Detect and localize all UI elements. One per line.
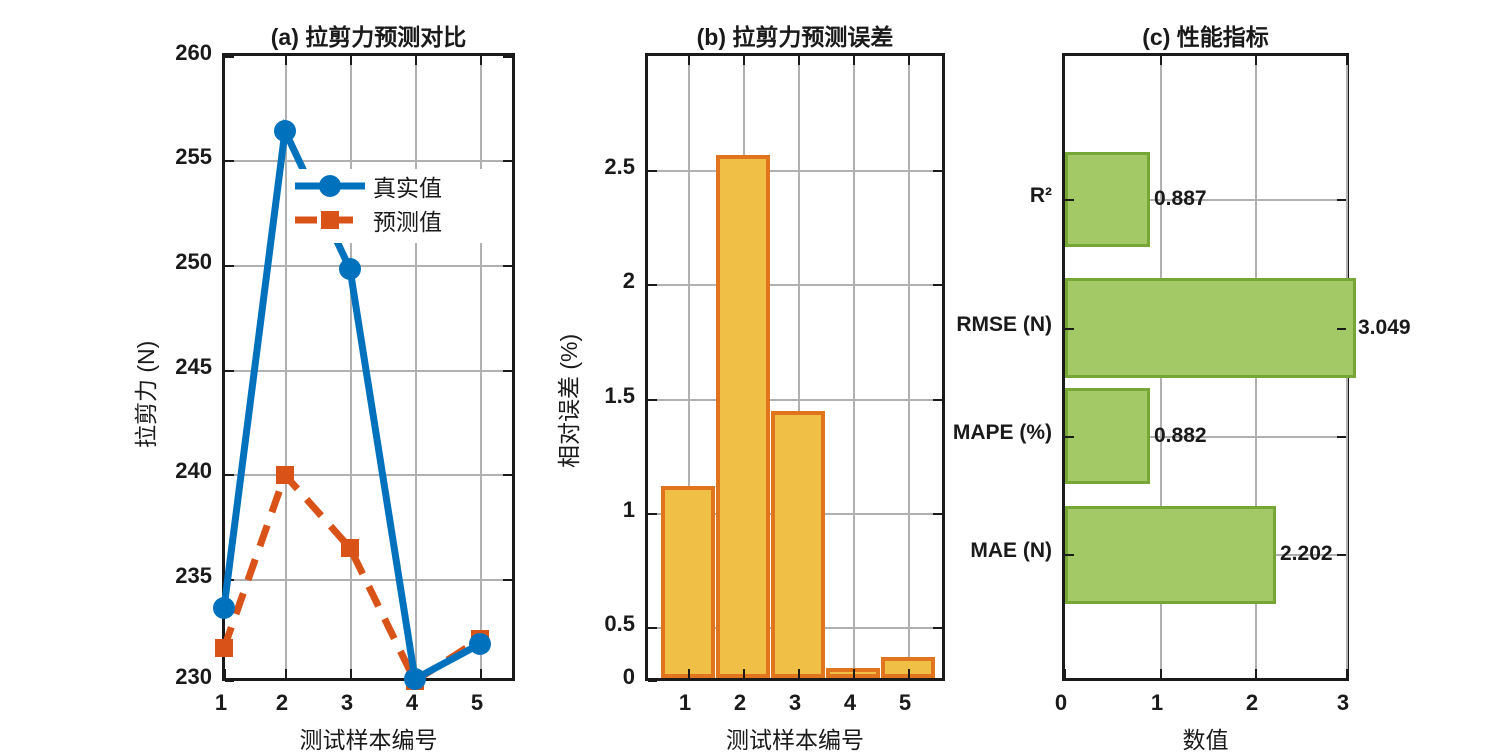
axis-tick [648,680,657,682]
panel-c: (c) 性能指标 0.887 3.049 0.882 2.202 [1062,18,1349,750]
axis-tick [743,669,745,678]
bar-r2[interactable] [1065,152,1150,247]
panel-b-title: (b) 拉剪力预测误差 [645,18,945,52]
gridline [648,399,942,401]
y-ticklabel: 0 [577,664,635,690]
axis-tick [1064,669,1066,678]
x-ticklabel: 5 [471,690,483,716]
panel-c-axes: 0.887 3.049 0.882 2.202 [1062,53,1349,681]
axis-tick [743,56,745,65]
series-true-marker [274,120,296,142]
panel-b: (b) 拉剪力预测误差 [645,18,945,750]
legend-label-true: 真实值 [373,169,442,203]
legend-swatch-true [293,171,367,201]
axis-tick [1346,669,1348,678]
x-ticklabel: 5 [899,690,911,716]
legend-label-predicted: 预测值 [373,203,442,237]
x-ticklabel: 3 [341,690,353,716]
x-ticklabel: 1 [1151,690,1163,716]
x-ticklabel: 2 [734,690,746,716]
panel-c-title: (c) 性能指标 [1062,18,1349,52]
axis-tick [798,669,800,678]
y-ticklabel: 235 [154,563,212,589]
series-true-marker [404,668,426,690]
x-ticklabel: 0 [1055,690,1067,716]
category-label-mae: MAE (N) [912,539,1052,563]
axis-tick [933,627,942,629]
axis-tick [688,669,690,678]
axis-tick [1160,669,1162,678]
bar-mae[interactable] [1065,506,1276,604]
series-true-marker [213,597,235,619]
axis-tick [648,399,657,401]
series-predicted-marker [341,539,359,557]
series-true-marker [469,633,491,655]
axis-tick [853,56,855,65]
x-ticklabel: 3 [789,690,801,716]
axis-tick [1255,669,1257,678]
bar-mape[interactable] [1065,388,1150,484]
x-ticklabel: 2 [1246,690,1258,716]
axis-tick [798,56,800,65]
axis-tick [688,56,690,65]
bar-sample-1[interactable] [661,486,715,678]
x-ticklabel: 1 [215,690,227,716]
category-label-mape: MAPE (%) [912,421,1052,445]
bar-sample-3[interactable] [771,411,825,678]
axis-tick [1337,328,1346,330]
series-predicted-line [224,475,480,681]
axis-tick [853,669,855,678]
y-ticklabel: 1.5 [577,383,635,409]
bar-sample-2[interactable] [716,155,770,678]
y-ticklabel: 230 [154,664,212,690]
legend-entry-predicted: 预测值 [293,203,493,237]
axis-tick [933,399,942,401]
axis-tick [908,669,910,678]
panel-a-series-layer [225,56,518,684]
axis-tick [933,170,942,172]
series-true-marker [339,258,361,280]
axis-tick [1337,554,1346,556]
axis-tick [648,284,657,286]
legend-entry-true: 真实值 [293,169,493,203]
gridline [648,284,942,286]
panel-a-title: (a) 拉剪力预测对比 [222,18,515,52]
panel-b-ylabel: 相对误差 (%) [550,334,584,468]
x-ticklabel: 4 [406,690,418,716]
axis-tick [1065,554,1074,556]
x-ticklabel: 2 [276,690,288,716]
axis-tick [1337,199,1346,201]
panel-a-legend: 真实值 预测值 [293,169,493,243]
panel-a-axes: 真实值 预测值 [222,53,515,681]
bar-rmse[interactable] [1065,278,1356,378]
y-ticklabel: 260 [154,40,212,66]
axis-tick [1255,56,1257,65]
gridline [648,170,942,172]
panel-b-axes [645,53,945,681]
gridline [908,56,910,678]
axis-tick [1346,56,1348,65]
category-label-rmse: RMSE (N) [912,313,1052,337]
axis-tick [933,284,942,286]
gridline [853,56,855,678]
y-ticklabel: 2.5 [577,154,635,180]
y-ticklabel: 255 [154,144,212,170]
panel-a: (a) 拉剪力预测对比 [222,18,515,750]
bar-value-rmse: 3.049 [1358,316,1411,340]
y-ticklabel: 240 [154,458,212,484]
axis-tick [648,513,657,515]
axis-tick [908,56,910,65]
axis-tick [648,170,657,172]
x-ticklabel: 1 [679,690,691,716]
axis-tick [1065,328,1074,330]
x-ticklabel: 4 [844,690,856,716]
series-predicted-marker [276,466,294,484]
axis-tick [933,513,942,515]
y-ticklabel: 250 [154,249,212,275]
legend-swatch-predicted [293,205,367,235]
bar-value-r2: 0.887 [1154,187,1207,211]
y-ticklabel: 1 [577,497,635,523]
axis-tick [1160,56,1162,65]
axis-tick [1337,436,1346,438]
series-predicted-marker [215,639,233,657]
panel-a-ylabel: 拉剪力 (N) [127,341,161,448]
category-label-r2: R² [912,184,1052,208]
bar-value-mape: 0.882 [1154,424,1207,448]
y-ticklabel: 0.5 [577,611,635,637]
x-ticklabel: 3 [1337,690,1349,716]
y-ticklabel: 2 [577,268,635,294]
axis-tick [1065,199,1074,201]
figure-root: (a) 拉剪力预测对比 [0,0,1500,750]
axis-tick [1065,436,1074,438]
axis-tick [648,627,657,629]
y-ticklabel: 245 [154,354,212,380]
bar-value-mae: 2.202 [1280,542,1333,566]
